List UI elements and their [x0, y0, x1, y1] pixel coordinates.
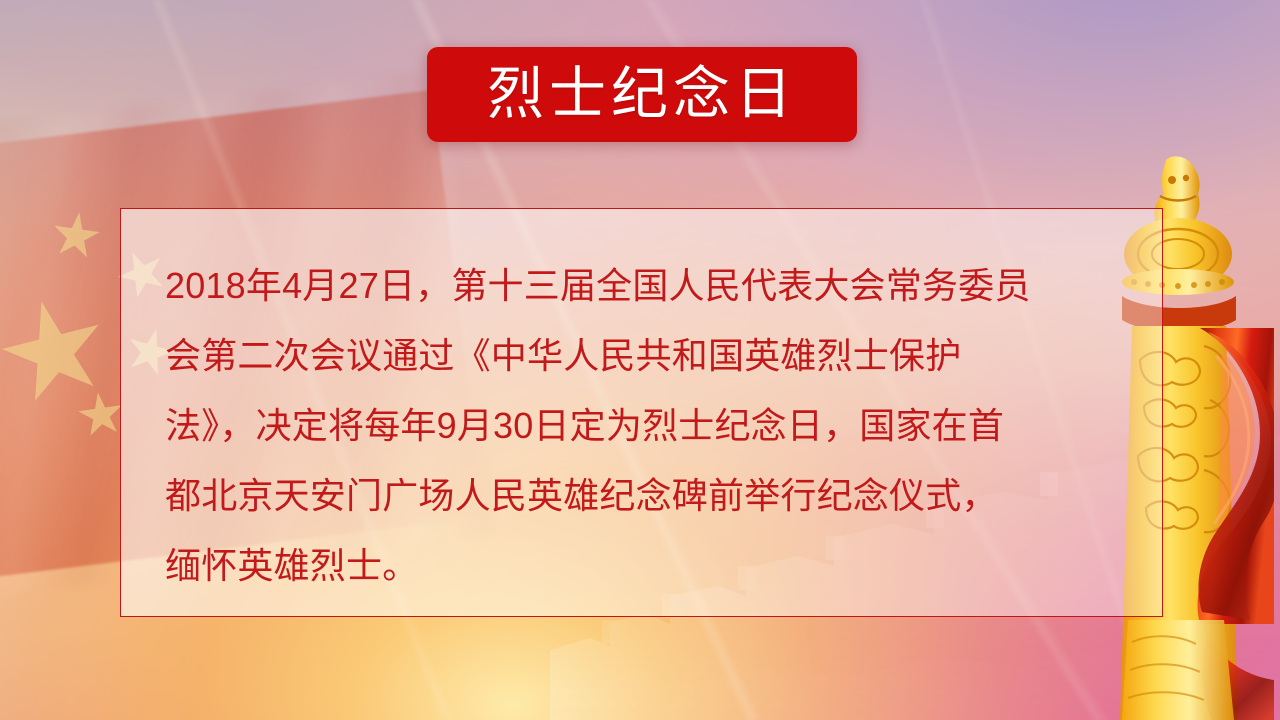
slide-title-plate: 烈士纪念日	[427, 47, 857, 142]
body-line-3: 法》，决定将每年9月30日定为烈士纪念日，国家在首	[165, 391, 1142, 461]
body-line-5: 缅怀英雄烈士。	[165, 531, 1142, 601]
body-line-2: 会第二次会议通过《中华人民共和国英雄烈士保护	[165, 321, 1142, 391]
slide-canvas: 烈士纪念日 2018年4月27日，第十三届全国人民代表大会常务委员 会第二次会议…	[0, 0, 1280, 720]
huabiao-shaft-lower	[1122, 620, 1234, 720]
body-line-4: 都北京天安门广场人民英雄纪念碑前举行纪念仪式，	[165, 461, 1142, 531]
page-title: 烈士纪念日	[487, 66, 797, 123]
body-paragraph: 2018年4月27日，第十三届全国人民代表大会常务委员 会第二次会议通过《中华人…	[165, 251, 1142, 601]
body-line-1: 2018年4月27日，第十三届全国人民代表大会常务委员	[165, 251, 1142, 321]
content-panel: 2018年4月27日，第十三届全国人民代表大会常务委员 会第二次会议通过《中华人…	[120, 208, 1163, 617]
